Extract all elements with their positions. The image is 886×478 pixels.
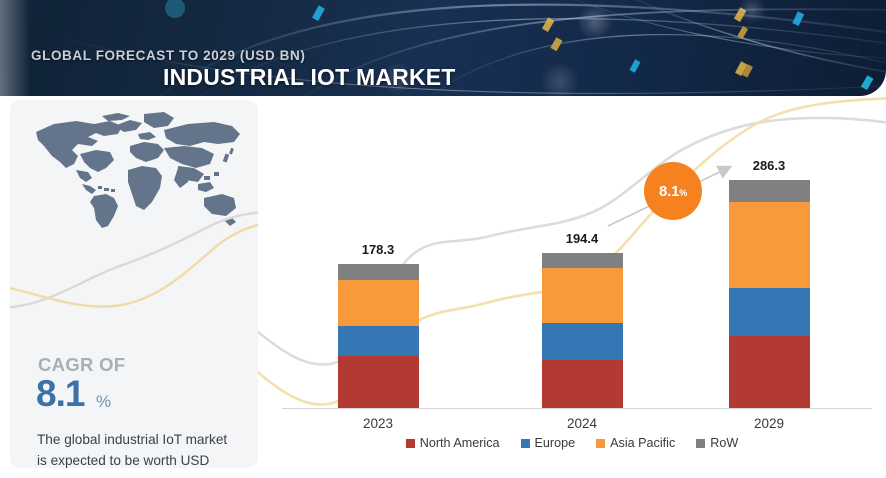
- cagr-value: 8.1: [36, 375, 84, 412]
- banner-kicker: GLOBAL FORECAST TO 2029 (USD BN): [31, 48, 305, 63]
- bar-2023-segment-europe[interactable]: [338, 326, 419, 356]
- left-summary-panel: CAGR OF 8.1 % The global industrial IoT …: [10, 100, 258, 468]
- legend-item-europe[interactable]: Europe: [521, 436, 576, 450]
- chart-baseline: [282, 408, 872, 409]
- bar-2029-segment-asia-pacific[interactable]: [729, 202, 810, 288]
- legend-swatch-europe: [521, 439, 530, 448]
- page-title: INDUSTRIAL IOT MARKET: [163, 64, 456, 91]
- bar-2029-total-label: 286.3: [714, 158, 824, 173]
- bar-2023[interactable]: [338, 264, 419, 408]
- left-panel-wave-lines: [10, 210, 258, 330]
- bar-2029-segment-europe[interactable]: [729, 288, 810, 336]
- bar-2023-segment-row[interactable]: [338, 264, 419, 280]
- summary-description: The global industrial IoT market is expe…: [37, 430, 237, 468]
- legend-swatch-asia-pacific: [596, 439, 605, 448]
- legend-swatch-row: [696, 439, 705, 448]
- bar-2024[interactable]: [542, 253, 623, 408]
- bar-2024-category-label: 2024: [527, 416, 637, 431]
- legend-item-row[interactable]: RoW: [696, 436, 738, 450]
- legend-label-europe: Europe: [535, 436, 576, 450]
- bar-2023-segment-north-america[interactable]: [338, 356, 419, 408]
- bar-2029[interactable]: [729, 180, 810, 408]
- stacked-bar-chart: 178.3 2023 194.4 2024 286.3 2029: [258, 96, 886, 478]
- bar-2024-segment-asia-pacific[interactable]: [542, 268, 623, 323]
- legend-swatch-north-america: [406, 439, 415, 448]
- banner-title-block: GLOBAL FORECAST TO 2029 (USD BN) INDUSTR…: [0, 0, 886, 96]
- bar-2023-category-label: 2023: [323, 416, 433, 431]
- legend-item-north-america[interactable]: North America: [406, 436, 500, 450]
- legend-item-asia-pacific[interactable]: Asia Pacific: [596, 436, 675, 450]
- infographic-page: GLOBAL FORECAST TO 2029 (USD BN) INDUSTR…: [0, 0, 886, 478]
- cagr-badge: 8.1%: [644, 162, 702, 220]
- bar-2029-segment-row[interactable]: [729, 180, 810, 202]
- cagr-badge-text: 8.1%: [659, 183, 687, 200]
- bar-2023-total-label: 178.3: [323, 242, 433, 257]
- header-banner: GLOBAL FORECAST TO 2029 (USD BN) INDUSTR…: [0, 0, 886, 96]
- bar-2024-total-label: 194.4: [527, 231, 637, 246]
- cagr-badge-value: 8.1: [659, 183, 679, 200]
- bar-2024-segment-row[interactable]: [542, 253, 623, 268]
- cagr-badge-unit: %: [679, 188, 687, 198]
- bar-2023-segment-asia-pacific[interactable]: [338, 280, 419, 326]
- legend-label-asia-pacific: Asia Pacific: [610, 436, 675, 450]
- bar-2024-segment-europe[interactable]: [542, 323, 623, 360]
- cagr-unit: %: [96, 392, 111, 412]
- bar-2029-category-label: 2029: [714, 416, 824, 431]
- legend-label-row: RoW: [710, 436, 738, 450]
- bar-2024-segment-north-america[interactable]: [542, 360, 623, 408]
- legend-label-north-america: North America: [420, 436, 500, 450]
- chart-legend: North America Europe Asia Pacific RoW: [258, 436, 886, 450]
- bar-2029-segment-north-america[interactable]: [729, 336, 810, 408]
